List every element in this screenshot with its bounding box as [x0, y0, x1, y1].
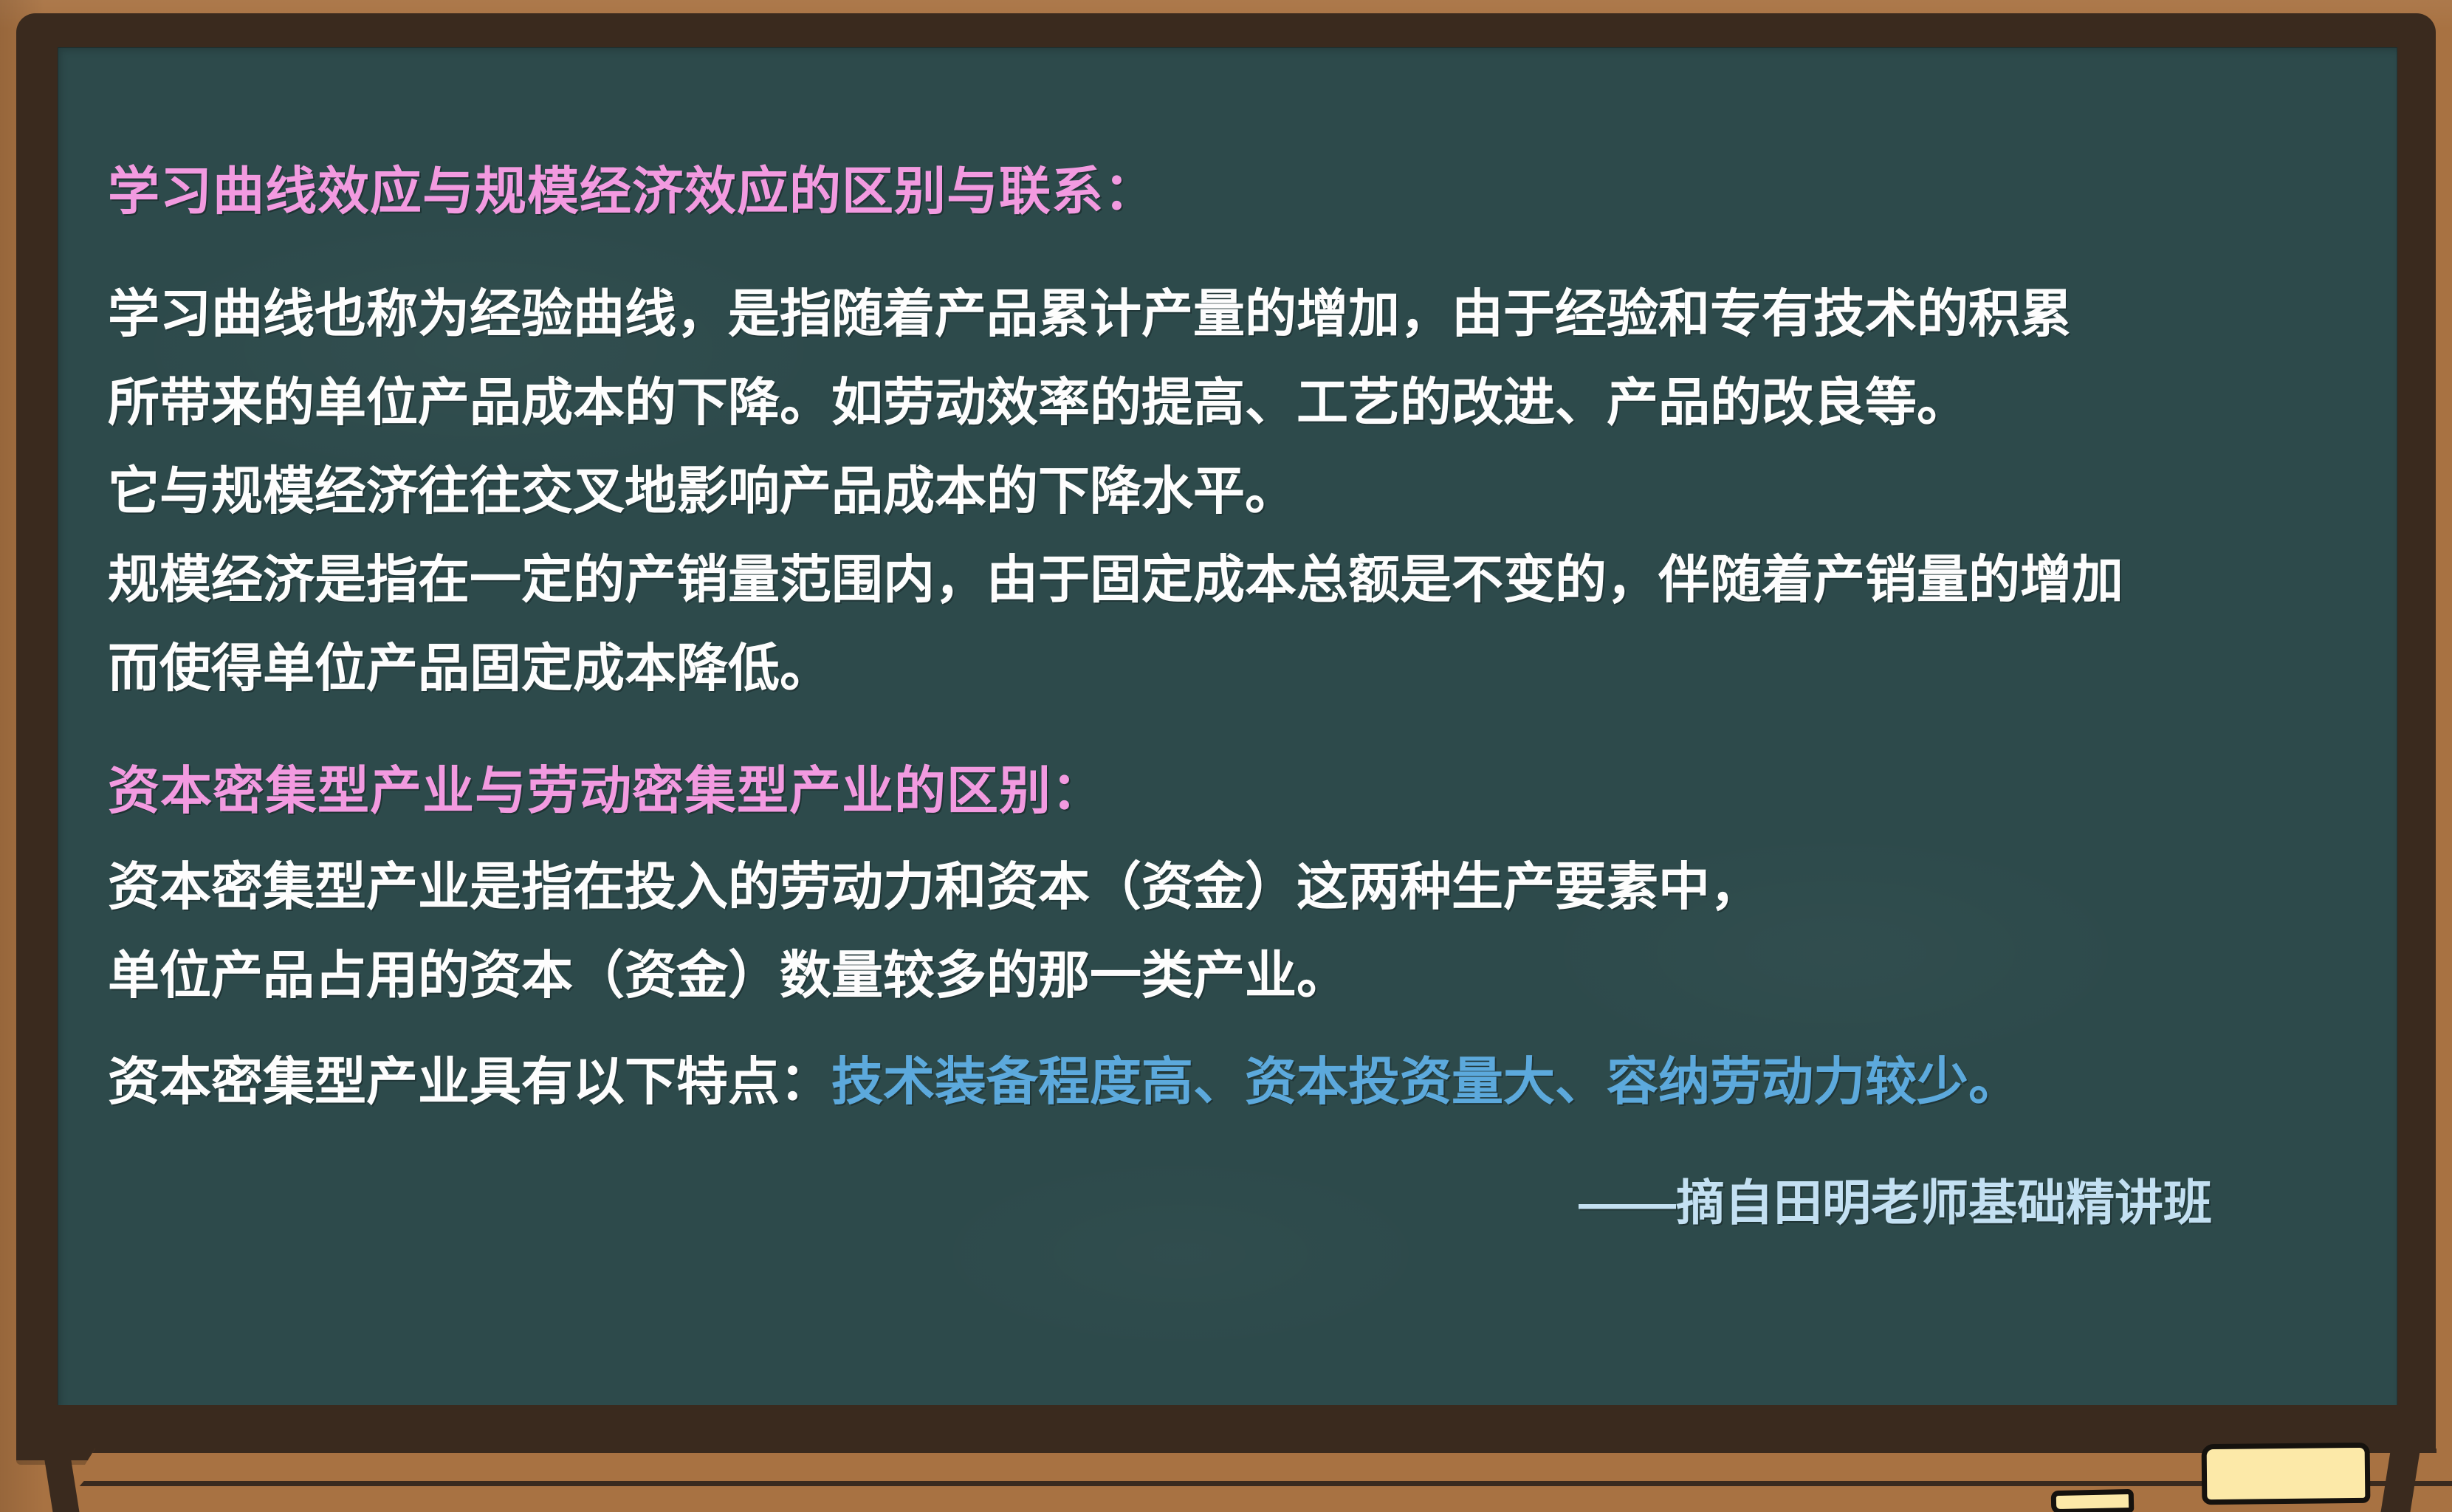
chalk-tray-lip-upper	[74, 1449, 2436, 1482]
spacer	[108, 517, 2293, 554]
spacer	[108, 217, 2293, 288]
feature-line-highlight: 技术装备程度高、资本投资量大、容纳劳动力较少。	[831, 1053, 2020, 1110]
spacer	[108, 913, 2293, 949]
section-one-line-4: 规模经济是指在一定的产销量范围内，由于固定成本总额是不变的，伴随着产销量的增加	[108, 554, 2293, 605]
board-content: 学习曲线效应与规模经济效应的区别与联系： 学习曲线也称为经验曲线，是指随着产品累…	[108, 165, 2293, 1227]
spacer	[108, 1107, 2293, 1178]
attribution-row: ——摘自田明老师基础精讲班	[108, 1178, 2293, 1227]
chalkboard-frame: 学习曲线效应与规模经济效应的区别与联系： 学习曲线也称为经验曲线，是指随着产品累…	[16, 13, 2436, 1460]
section-one-line-3: 它与规模经济往往交叉地影响产品成本的下降水平。	[108, 465, 2293, 517]
section-two-heading: 资本密集型产业与劳动密集型产业的区别：	[108, 765, 2293, 817]
section-two-feature-line: 资本密集型产业具有以下特点：技术装备程度高、资本投资量大、容纳劳动力较少。	[108, 1056, 2293, 1107]
spacer	[108, 340, 2293, 377]
chalkboard-slide: 学习曲线效应与规模经济效应的区别与联系： 学习曲线也称为经验曲线，是指随着产品累…	[0, 0, 2452, 1512]
feature-line-prefix: 资本密集型产业具有以下特点：	[108, 1053, 831, 1110]
attribution-text: ——摘自田明老师基础精讲班	[1579, 1178, 2212, 1227]
section-one-line-1: 学习曲线也称为经验曲线，是指随着产品累计产量的增加，由于经验和专有技术的积累	[108, 288, 2293, 340]
spacer	[108, 1001, 2293, 1056]
spacer	[108, 694, 2293, 765]
chalk-stick[interactable]	[2051, 1489, 2135, 1512]
chalk-eraser-block[interactable]	[2202, 1443, 2371, 1505]
section-one-line-5: 而使得单位产品固定成本降低。	[108, 642, 2293, 694]
spacer	[108, 605, 2293, 642]
section-one-heading: 学习曲线效应与规模经济效应的区别与联系：	[108, 165, 2293, 217]
section-one-line-2: 所带来的单位产品成本的下降。如劳动效率的提高、工艺的改进、产品的改良等。	[108, 377, 2293, 428]
section-two-line-2: 单位产品占用的资本（资金）数量较多的那一类产业。	[108, 949, 2293, 1001]
spacer	[108, 817, 2293, 861]
spacer	[108, 428, 2293, 465]
section-two-line-1: 资本密集型产业是指在投入的劳动力和资本（资金）这两种生产要素中，	[108, 861, 2293, 913]
